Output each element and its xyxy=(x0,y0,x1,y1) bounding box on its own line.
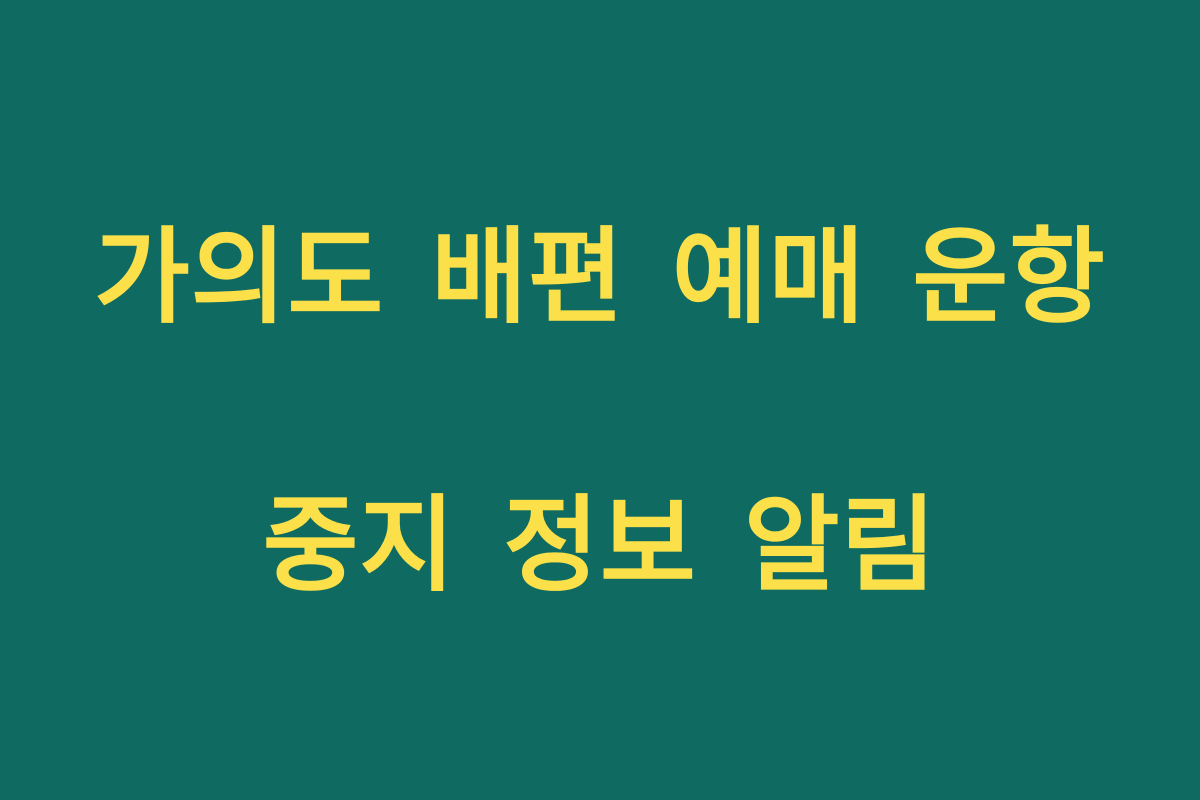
page-title: 가의도 배편 예매 운항 중지 정보 알림 xyxy=(60,76,1140,746)
headline-line-1: 가의도 배편 예매 운항 xyxy=(60,210,1140,344)
headline-line-2: 중지 정보 알림 xyxy=(60,478,1140,612)
notice-banner: 가의도 배편 예매 운항 중지 정보 알림 xyxy=(0,0,1200,800)
